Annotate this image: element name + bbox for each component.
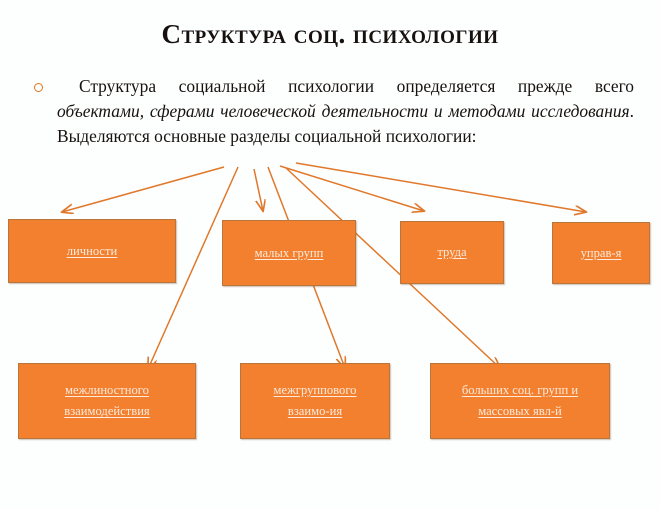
body-text-part1: Структура социальной психологии определя… xyxy=(79,76,634,96)
node-label: личности xyxy=(61,242,124,261)
node-truda[interactable]: труда xyxy=(400,221,504,284)
node-label: межгрупповоговзаимо-ия xyxy=(268,380,363,422)
node-mezhgruppovogo-vzaimo-iya[interactable]: межгрупповоговзаимо-ия xyxy=(240,363,390,439)
node-label: межлиностноговзаимодействия xyxy=(58,380,155,422)
node-label: труда xyxy=(431,243,472,262)
node-mezhlichnostnogo-vzaimodeystviya[interactable]: межлиностноговзаимодействия xyxy=(18,363,196,439)
slide-canvas: Структура соц. психологии Структура соци… xyxy=(0,0,660,509)
arrow-to-box-malyh-grupp xyxy=(254,169,263,211)
node-malyh-grupp[interactable]: малых групп xyxy=(222,220,356,286)
arrow-to-box-lichnosti xyxy=(62,167,224,212)
node-label: малых групп xyxy=(249,244,330,263)
arrow-to-box-uprav xyxy=(296,163,586,212)
node-label-line1: межгруппового xyxy=(274,383,357,397)
page-title: Структура соц. психологии xyxy=(0,20,660,50)
node-label-line1: межлиностного xyxy=(65,383,149,397)
arrow-to-box-truda xyxy=(280,166,424,211)
node-label: управ-я xyxy=(575,244,628,263)
node-label-line2: взаимо-ия xyxy=(288,404,342,418)
node-label-line1: больших соц. групп и xyxy=(462,383,578,397)
body-paragraph: Структура социальной психологии определя… xyxy=(57,74,634,149)
body-paragraph-block: Структура социальной психологии определя… xyxy=(34,74,634,149)
node-label-line2: массовых явл-й xyxy=(478,404,562,418)
node-label: больших соц. групп имассовых явл-й xyxy=(456,380,584,422)
node-lichnosti[interactable]: личности xyxy=(8,219,176,283)
body-text-italic: объектами, сферами человеческой деятельн… xyxy=(57,101,630,121)
node-bolshih-soc-grupp-i-massovyh-yavleniy[interactable]: больших соц. групп имассовых явл-й xyxy=(430,363,610,439)
node-uprav[interactable]: управ-я xyxy=(552,222,650,284)
node-label-line2: взаимодействия xyxy=(64,404,149,418)
circle-outline-bullet-icon xyxy=(34,83,43,92)
